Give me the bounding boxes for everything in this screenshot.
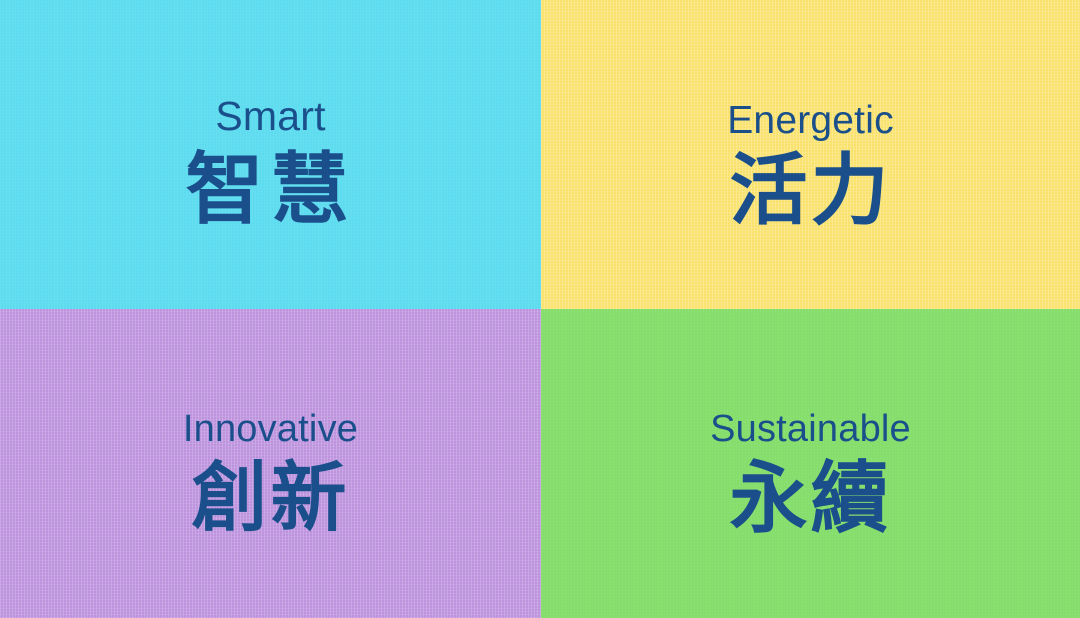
brand-values-board: Smart 智慧 Energetic 活力 Innovative 創新 Sust… [0, 0, 1080, 618]
quadrant-label-chinese-innovative: 創新 [192, 460, 350, 536]
quadrant-label-chinese-sustainable: 永續 [729, 460, 891, 538]
quadrant-energetic: Energetic 活力 [541, 0, 1080, 309]
quadrant-label-english-energetic: Energetic [727, 101, 894, 140]
quadrant-label-chinese-energetic: 活力 [729, 152, 891, 230]
quadrant-smart: Smart 智慧 [0, 0, 541, 309]
quadrant-label-chinese-smart: 智慧 [185, 151, 355, 229]
label-stack-smart: Smart 智慧 [0, 96, 541, 229]
quadrant-label-english-sustainable: Sustainable [710, 410, 911, 448]
quadrant-sustainable: Sustainable 永續 [541, 309, 1080, 618]
label-stack-innovative: Innovative 創新 [0, 410, 541, 536]
quadrant-label-english-innovative: Innovative [183, 410, 358, 448]
label-stack-sustainable: Sustainable 永續 [541, 410, 1080, 538]
quadrant-innovative: Innovative 創新 [0, 309, 541, 618]
quadrant-label-english-smart: Smart [215, 96, 325, 137]
label-stack-energetic: Energetic 活力 [541, 101, 1080, 230]
